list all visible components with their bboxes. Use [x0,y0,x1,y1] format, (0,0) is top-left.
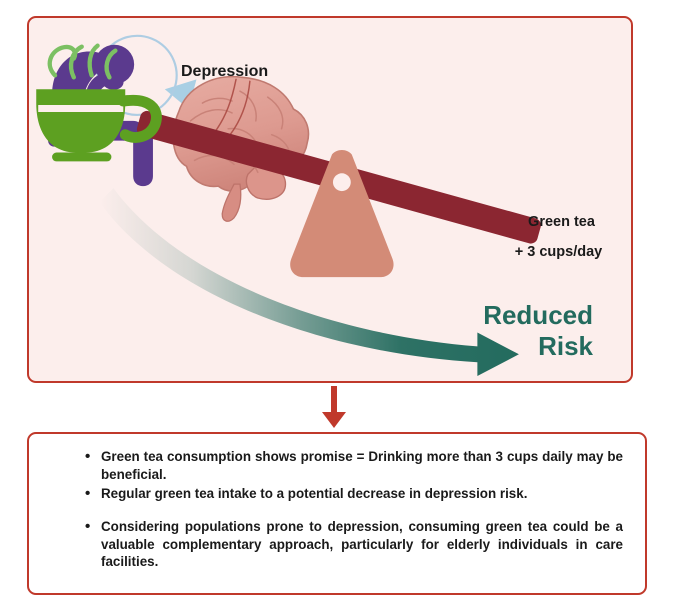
label-risk: Risk [399,331,593,362]
conclusions-list: Green tea consumption shows promise = Dr… [29,434,645,571]
label-reduced: Reduced [399,300,593,331]
list-item: Green tea consumption shows promise = Dr… [85,448,623,483]
illustration-panel: Depression Green tea + 3 cups/day Reduce… [27,16,633,383]
infographic-root: Depression Green tea + 3 cups/day Reduce… [0,0,674,615]
label-green-tea: Green tea [499,214,624,230]
list-item: Considering populations prone to depress… [85,518,623,571]
label-reduced-risk: Reduced Risk [399,300,593,361]
conclusions-panel: Green tea consumption shows promise = Dr… [27,432,647,595]
label-depression: Depression [181,63,268,81]
seesaw-icon [135,109,542,277]
list-item: Regular green tea intake to a potential … [85,485,623,503]
fulcrum-pivot [333,173,351,191]
label-cups-per-day: + 3 cups/day [491,244,626,260]
down-arrow-icon [320,386,348,428]
